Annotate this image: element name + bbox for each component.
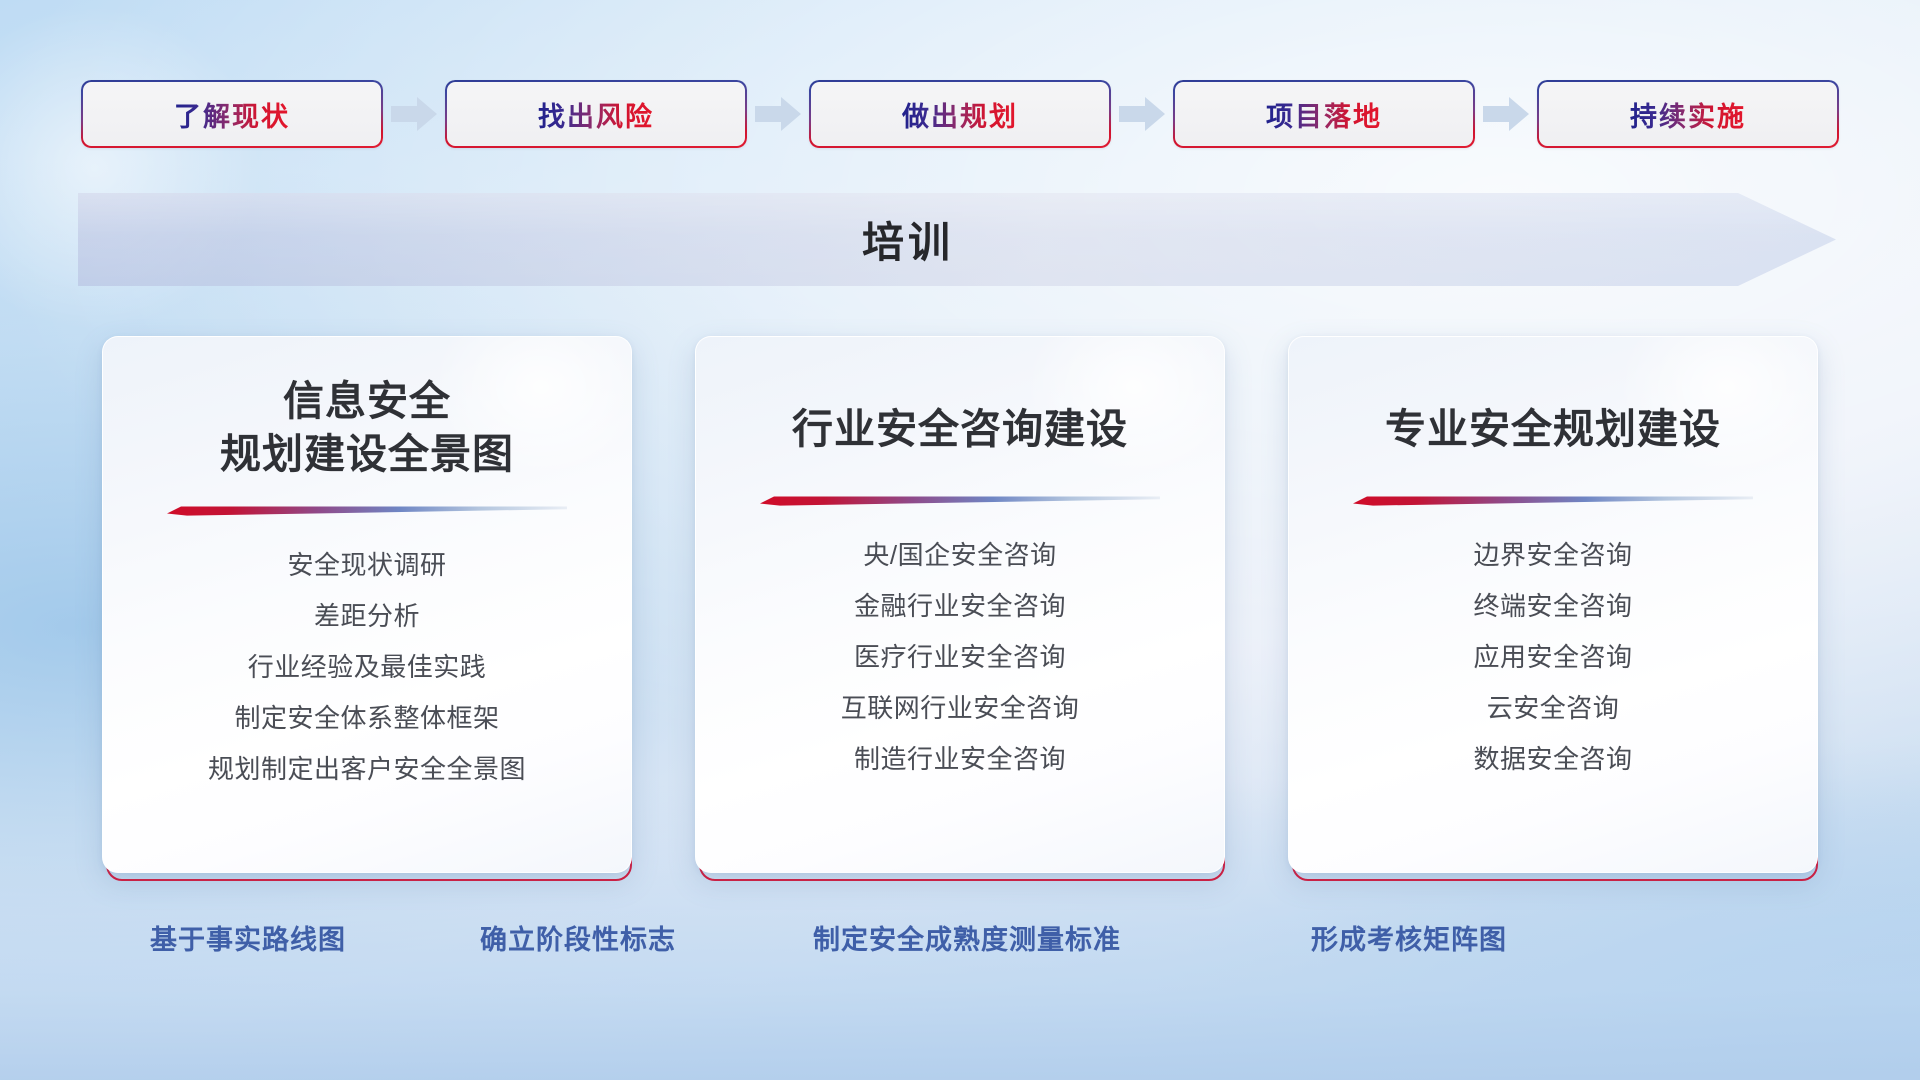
card-title-line2-1: 规划建设全景图 xyxy=(137,428,597,481)
process-step-row: 了解现状找出风险做出规划项目落地持续实施 xyxy=(0,76,1920,152)
card-list-2: 央/国企安全咨询金融行业安全咨询医疗行业安全咨询互联网行业安全咨询制造行业安全咨… xyxy=(725,530,1195,785)
card-2[interactable]: 行业安全咨询建设央/国企安全咨询金融行业安全咨询医疗行业安全咨询互联网行业安全咨… xyxy=(695,336,1225,881)
step-label-1: 了解现状 xyxy=(174,95,290,134)
list-item: 互联网行业安全咨询 xyxy=(841,683,1080,734)
footer-label-1: 基于事实路线图 xyxy=(150,910,346,964)
card-title-line1-1: 信息安全 xyxy=(137,375,597,428)
card-panel-3: 专业安全规划建设边界安全咨询终端安全咨询应用安全咨询云安全咨询数据安全咨询 xyxy=(1288,336,1818,873)
right-arrow-icon xyxy=(391,97,437,131)
training-banner: 培训 xyxy=(78,193,1836,286)
list-item: 金融行业安全咨询 xyxy=(854,581,1066,632)
card-panel-2: 行业安全咨询建设央/国企安全咨询金融行业安全咨询医疗行业安全咨询互联网行业安全咨… xyxy=(695,336,1225,873)
list-item: 应用安全咨询 xyxy=(1473,632,1632,683)
list-item: 终端安全咨询 xyxy=(1473,581,1632,632)
list-item: 安全现状调研 xyxy=(287,540,446,591)
step-label-5: 持续实施 xyxy=(1630,95,1746,134)
card-title-1: 信息安全规划建设全景图 xyxy=(137,375,597,482)
training-banner-label: 培训 xyxy=(78,193,1738,286)
right-arrow-icon xyxy=(1119,97,1165,131)
step-arrow-2 xyxy=(747,80,809,148)
list-item: 数据安全咨询 xyxy=(1473,734,1632,785)
card-3[interactable]: 专业安全规划建设边界安全咨询终端安全咨询应用安全咨询云安全咨询数据安全咨询 xyxy=(1288,336,1818,881)
list-item: 制定安全体系整体框架 xyxy=(234,693,499,744)
card-1[interactable]: 信息安全规划建设全景图安全现状调研差距分析行业经验及最佳实践制定安全体系整体框架… xyxy=(102,336,632,881)
gradient-divider-icon xyxy=(1353,494,1753,506)
list-item: 行业经验及最佳实践 xyxy=(248,642,487,693)
card-divider-1 xyxy=(167,504,567,516)
list-item: 央/国企安全咨询 xyxy=(863,530,1056,581)
card-list-1: 安全现状调研差距分析行业经验及最佳实践制定安全体系整体框架规划制定出客户安全全景… xyxy=(132,540,602,795)
card-row: 信息安全规划建设全景图安全现状调研差距分析行业经验及最佳实践制定安全体系整体框架… xyxy=(0,336,1920,881)
step-arrow-3 xyxy=(1111,80,1173,148)
step-label-3: 做出规划 xyxy=(902,95,1018,134)
card-divider-3 xyxy=(1353,494,1753,506)
step-box-5[interactable]: 持续实施 xyxy=(1537,80,1839,148)
card-list-3: 边界安全咨询终端安全咨询应用安全咨询云安全咨询数据安全咨询 xyxy=(1318,530,1788,785)
step-arrow-1 xyxy=(383,80,445,148)
list-item: 规划制定出客户安全全景图 xyxy=(208,744,526,795)
list-item: 云安全咨询 xyxy=(1487,683,1620,734)
list-item: 差距分析 xyxy=(314,591,420,642)
gradient-divider-icon xyxy=(167,504,567,516)
card-panel-1: 信息安全规划建设全景图安全现状调研差距分析行业经验及最佳实践制定安全体系整体框架… xyxy=(102,336,632,873)
step-arrow-4 xyxy=(1475,80,1537,148)
card-title-line1-2: 行业安全咨询建设 xyxy=(730,403,1190,456)
right-arrow-icon xyxy=(1483,97,1529,131)
card-title-line1-3: 专业安全规划建设 xyxy=(1323,403,1783,456)
right-arrow-icon xyxy=(755,97,801,131)
list-item: 制造行业安全咨询 xyxy=(854,734,1066,785)
footer-label-2: 确立阶段性标志 xyxy=(480,910,676,964)
list-item: 边界安全咨询 xyxy=(1473,530,1632,581)
footer-label-row: 基于事实路线图确立阶段性标志制定安全成熟度测量标准形成考核矩阵图 xyxy=(0,910,1920,964)
step-box-2[interactable]: 找出风险 xyxy=(445,80,747,148)
step-label-4: 项目落地 xyxy=(1266,95,1382,134)
list-item: 医疗行业安全咨询 xyxy=(854,632,1066,683)
gradient-divider-icon xyxy=(760,494,1160,506)
footer-label-4: 形成考核矩阵图 xyxy=(1311,910,1507,964)
card-title-3: 专业安全规划建设 xyxy=(1323,403,1783,456)
card-title-2: 行业安全咨询建设 xyxy=(730,403,1190,456)
step-box-3[interactable]: 做出规划 xyxy=(809,80,1111,148)
footer-label-3: 制定安全成熟度测量标准 xyxy=(813,910,1121,964)
step-box-4[interactable]: 项目落地 xyxy=(1173,80,1475,148)
step-box-1[interactable]: 了解现状 xyxy=(81,80,383,148)
step-label-2: 找出风险 xyxy=(538,95,654,134)
card-divider-2 xyxy=(760,494,1160,506)
